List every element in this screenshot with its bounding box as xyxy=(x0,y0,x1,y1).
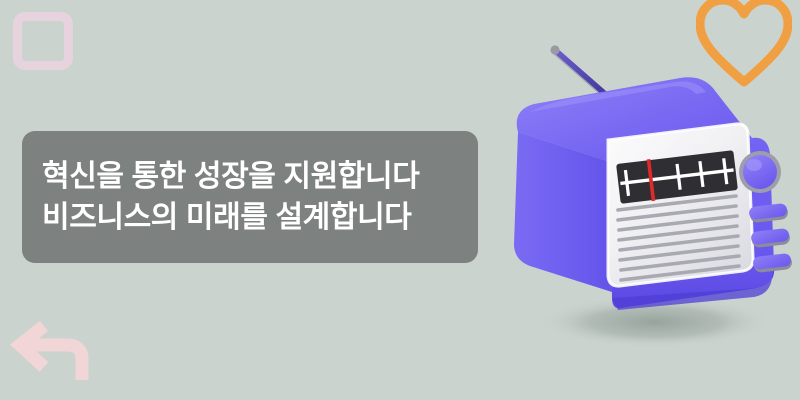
radio-buttons xyxy=(748,203,792,273)
square-outline-icon xyxy=(13,12,73,70)
headline-line-2: 비즈니스의 미래를 설계합니다 xyxy=(42,197,458,238)
return-arrow-icon xyxy=(4,300,134,400)
radio-front-panel xyxy=(608,124,753,290)
headline-banner: 혁신을 통한 성장을 지원합니다 비즈니스의 미래를 설계합니다 xyxy=(22,131,478,263)
tuning-knob xyxy=(739,151,781,193)
antenna-tip xyxy=(550,45,559,54)
headline-line-1: 혁신을 통한 성장을 지원합니다 xyxy=(42,156,458,197)
retro-radio-illustration xyxy=(500,20,800,360)
poster-canvas: 혁신을 통한 성장을 지원합니다 비즈니스의 미래를 설계합니다 xyxy=(0,0,800,400)
